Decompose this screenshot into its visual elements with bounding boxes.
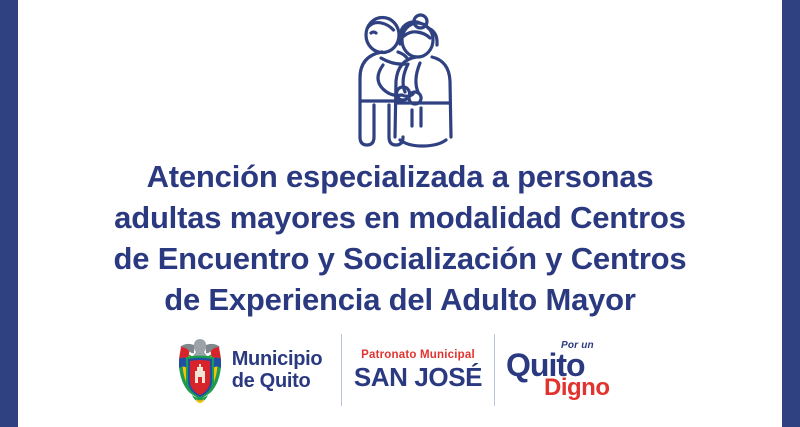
patronato-main-text: SAN JOSÉ xyxy=(354,364,482,390)
municipio-wordmark: Municipio de Quito xyxy=(232,348,323,392)
municipio-line-2: de Quito xyxy=(232,370,323,392)
patronato-wordmark: Patronato Municipal SAN JOSÉ xyxy=(354,350,482,390)
logo-municipio-de-quito: Municipio de Quito xyxy=(155,332,341,408)
headline-line-3: de Encuentro y Socialización y Centros xyxy=(50,238,750,279)
quito-coat-of-arms-icon xyxy=(174,337,226,403)
headline-line-1: Atención especializada a personas xyxy=(50,156,750,197)
slide-canvas: Atención especializada a personas adulta… xyxy=(0,0,800,427)
page-title: Atención especializada a personas adulta… xyxy=(50,156,750,320)
slide-content: Atención especializada a personas adulta… xyxy=(18,0,782,427)
elderly-couple-icon xyxy=(320,8,480,150)
municipio-line-1: Municipio xyxy=(232,348,323,370)
patronato-kicker: Patronato Municipal xyxy=(354,350,482,362)
digno-word-digno: Digno xyxy=(544,376,609,400)
logo-por-un-quito-digno: Por un Quito Digno xyxy=(495,332,645,408)
right-accent-bar xyxy=(782,0,800,427)
headline-line-2: adultas mayores en modalidad Centros xyxy=(50,197,750,238)
headline-line-4: de Experiencia del Adulto Mayor xyxy=(50,279,750,320)
left-accent-bar xyxy=(0,0,18,427)
logo-strip: Municipio de Quito Patronato Municipal S… xyxy=(140,332,660,408)
quito-digno-wordmark: Por un Quito Digno xyxy=(506,339,634,401)
logo-patronato-san-jose: Patronato Municipal SAN JOSÉ xyxy=(342,332,494,408)
